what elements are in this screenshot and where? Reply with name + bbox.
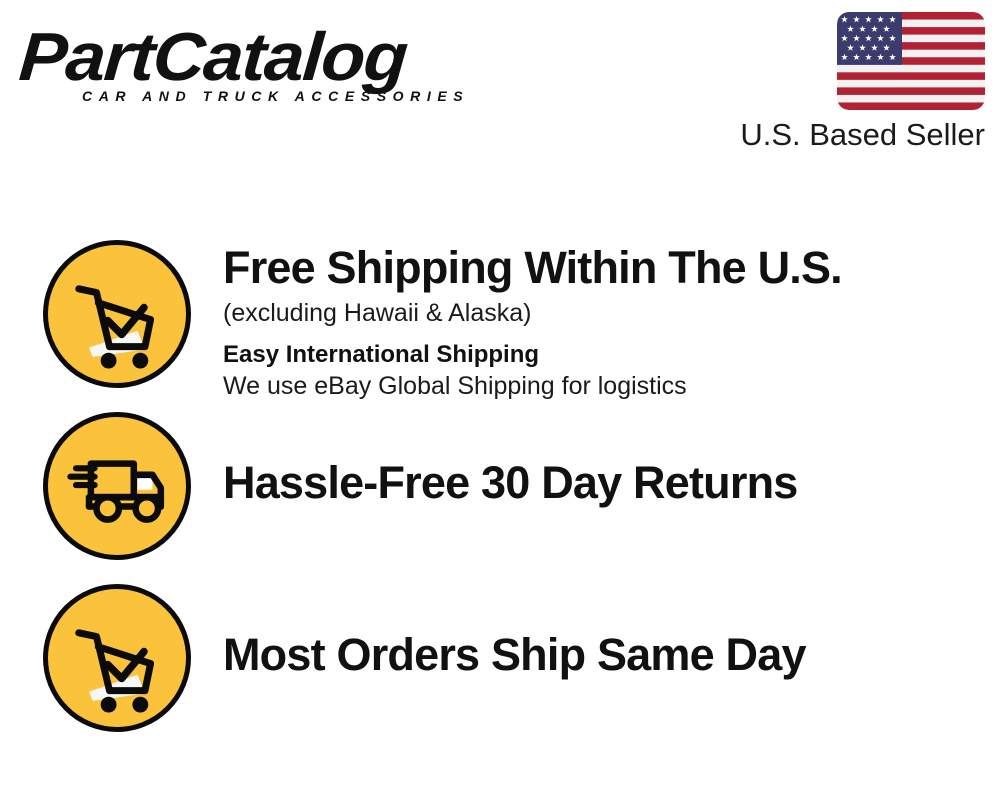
feature-list: Free Shipping Within The U.S. (excluding…: [0, 240, 1000, 756]
feature-subtitle-strong: Easy International Shipping: [223, 339, 983, 370]
us-based-seller-badge: U.S. Based Seller: [740, 12, 985, 153]
page-header: PartCatalog CAR AND TRUCK ACCESSORIES: [0, 0, 1000, 170]
shopping-cart-check-icon: [43, 584, 191, 732]
feature-row: Hassle-Free 30 Day Returns: [0, 412, 1000, 584]
feature-row: Free Shipping Within The U.S. (excluding…: [0, 240, 1000, 412]
shipping-policy-banner: PartCatalog CAR AND TRUCK ACCESSORIES: [0, 0, 1000, 800]
feature-row: Most Orders Ship Same Day: [0, 584, 1000, 756]
shopping-cart-check-icon: [43, 240, 191, 388]
feature-text-block: Hassle-Free 30 Day Returns: [223, 457, 983, 509]
feature-note: (excluding Hawaii & Alaska): [223, 297, 983, 329]
feature-text-block: Most Orders Ship Same Day: [223, 629, 983, 681]
feature-text-block: Free Shipping Within The U.S. (excluding…: [223, 242, 983, 403]
us-flag-icon: [837, 12, 985, 110]
feature-title: Hassle-Free 30 Day Returns: [223, 457, 983, 509]
delivery-truck-icon: [43, 412, 191, 560]
brand-logo: PartCatalog CAR AND TRUCK ACCESSORIES: [22, 22, 492, 117]
feature-title: Free Shipping Within The U.S.: [223, 242, 983, 294]
feature-title: Most Orders Ship Same Day: [223, 629, 983, 681]
feature-subtitle: We use eBay Global Shipping for logistic…: [223, 370, 983, 403]
us-based-seller-label: U.S. Based Seller: [740, 117, 985, 153]
brand-name: PartCatalog: [17, 22, 520, 92]
